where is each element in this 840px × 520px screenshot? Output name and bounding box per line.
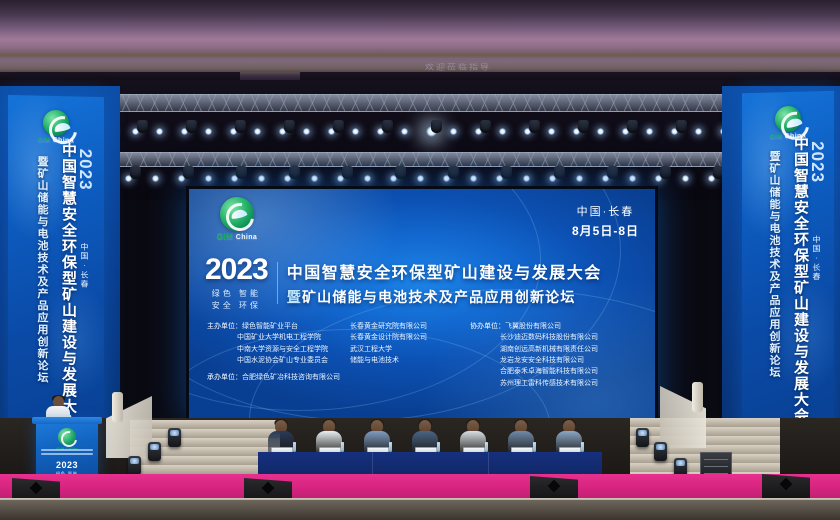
spotlight-lower — [417, 175, 424, 182]
moving-head-upper — [578, 120, 589, 133]
moving-head-lower — [448, 166, 459, 179]
banner-left-subtitle: 暨矿山储能与电池技术及产品应用创新论坛 — [34, 155, 50, 383]
water-bottle — [533, 442, 536, 452]
podium-top-surface — [32, 417, 102, 424]
gim-logo-icon — [775, 106, 801, 133]
spotlight-lower — [682, 175, 689, 182]
banner-left-logo: GIM China — [30, 109, 82, 144]
spotlight-upper — [401, 128, 408, 135]
podium-year: 2023 — [36, 460, 98, 470]
moving-head-upper — [382, 120, 393, 133]
spotlight-upper — [352, 128, 359, 135]
banner-right-subtitle: 暨矿山储能与电池技术及产品应用创新论坛 — [766, 150, 782, 378]
spotlight-lower — [205, 175, 212, 182]
moving-head-upper — [431, 120, 442, 133]
spotlight-lower — [258, 175, 265, 182]
qi-character: 暨 — [287, 289, 302, 305]
water-bottle — [581, 442, 584, 452]
banner-left-title: 中国智慧安全环保型矿山建设与发展大会 — [58, 142, 79, 431]
moving-head-upper — [627, 120, 638, 133]
moving-head-lower — [660, 166, 671, 179]
gim-logo-text: GIM China — [205, 232, 269, 241]
screen-dates: 8月5日-8日 — [572, 222, 639, 239]
spotlight-upper — [303, 128, 310, 135]
moving-head-upper — [235, 120, 246, 133]
floor-light-1 — [168, 428, 181, 447]
gim-logo-icon — [43, 110, 69, 137]
led-screen-content: GIM China 中国·长春 8月5日-8日 2023 绿色 智能 安全 环保 — [189, 189, 655, 419]
host-column-1: 主办单位：绿色智能矿业平台 中国矿业大学机电工程学院 中南大学资源与安全工程学院… — [207, 321, 340, 389]
spotlight-lower — [311, 175, 318, 182]
water-bottle — [485, 442, 488, 452]
conference-stage-photo: 欢迎莅临指导 GIM China 2023 中国·长春 中国智慧安全环保型矿山建… — [0, 0, 840, 520]
organizer-block: 主办单位：绿色智能矿业平台 中国矿业大学机电工程学院 中南大学资源与安全工程学院… — [207, 321, 641, 389]
moving-head-lower — [130, 166, 141, 179]
screen-year: 2023 — [205, 255, 268, 285]
moving-head-lower — [501, 166, 512, 179]
floor-light-2 — [148, 442, 161, 461]
moving-head-lower — [236, 166, 247, 179]
banner-right-title: 中国智慧安全环保型矿山建设与发展大会 — [790, 135, 811, 424]
podium-title-lines — [41, 449, 93, 457]
spotlight-upper — [205, 128, 212, 135]
balustrade-post-right — [692, 382, 703, 412]
screen-title-sub: 暨矿山储能与电池技术及产品应用创新论坛 — [287, 287, 641, 307]
floor-light-3 — [128, 456, 141, 475]
stage-front-edge — [0, 500, 840, 520]
host-column-2: 长春黄金研究院有限公司 长春黄金设计院有限公司 武汉工程大学 储能与电池技术 — [350, 321, 460, 389]
moving-head-upper — [137, 120, 148, 133]
spotlight-lower — [470, 175, 477, 182]
screen-title-main: 中国智慧安全环保型矿山建设与发展大会 — [287, 259, 641, 283]
spotlight-upper — [254, 128, 261, 135]
moving-head-lower — [395, 166, 406, 179]
screen-year-block: 2023 绿色 智能 安全 环保 — [205, 255, 268, 311]
screen-slogan: 绿色 智能 安全 环保 — [205, 288, 268, 311]
gim-logo-icon — [58, 428, 76, 446]
screen-title-row: 2023 绿色 智能 安全 环保 中国智慧安全环保型矿山建设与发展大会 暨矿山储… — [205, 255, 641, 311]
lighting-truss-lower — [60, 152, 780, 167]
banner-right-city: 中国·长春 — [811, 235, 822, 281]
spotlight-upper — [646, 128, 653, 135]
spotlight-upper — [499, 128, 506, 135]
podium-logo: GIM China — [52, 428, 82, 451]
spotlight-lower — [523, 175, 530, 182]
moving-head-upper — [529, 120, 540, 133]
screen-titles: 中国智慧安全环保型矿山建设与发展大会 暨矿山储能与电池技术及产品应用创新论坛 — [287, 259, 641, 307]
spotlight-lower — [364, 175, 371, 182]
floor-light-4 — [636, 428, 649, 447]
screen-city: 中国·长春 — [572, 203, 639, 219]
spotlight-upper — [156, 128, 163, 135]
spotlight-upper — [597, 128, 604, 135]
moving-head-lower — [183, 166, 194, 179]
spotlight-upper — [450, 128, 457, 135]
moving-head-lower — [342, 166, 353, 179]
main-led-screen: GIM China 中国·长春 8月5日-8日 2023 绿色 智能 安全 环保 — [186, 186, 658, 422]
coorganizer-column: 协办单位：飞翼股份有限公司 长沙迪迈数码科技股份有限公司 湖南创远高新机械有限责… — [470, 321, 641, 389]
title-divider — [277, 262, 278, 304]
moving-head-lower — [554, 166, 565, 179]
balustrade-post-left — [112, 392, 123, 422]
stage-monitor-4 — [762, 474, 810, 500]
gim-logo-icon — [220, 197, 254, 231]
moving-head-lower — [607, 166, 618, 179]
moving-head-upper — [186, 120, 197, 133]
spotlight-lower — [576, 175, 583, 182]
spotlight-upper — [548, 128, 555, 135]
moving-head-upper — [480, 120, 491, 133]
water-bottle — [341, 442, 344, 452]
lighting-truss-upper — [0, 94, 840, 112]
screen-gim-logo: GIM China — [205, 197, 269, 241]
spotlight-lower — [152, 175, 159, 182]
moving-head-lower — [289, 166, 300, 179]
floor-light-5 — [654, 442, 667, 461]
screen-city-date: 中国·长春 8月5日-8日 — [572, 203, 639, 239]
moving-head-upper — [676, 120, 687, 133]
water-bottle — [437, 442, 440, 452]
moving-head-upper — [333, 120, 344, 133]
banner-left-city: 中国·长春 — [79, 243, 90, 289]
water-bottle — [293, 442, 296, 452]
spotlight-upper — [695, 128, 702, 135]
ceiling-banner-text: 欢迎莅临指导 — [425, 61, 725, 71]
moving-head-upper — [284, 120, 295, 133]
spotlight-lower — [629, 175, 636, 182]
water-bottle — [389, 442, 392, 452]
